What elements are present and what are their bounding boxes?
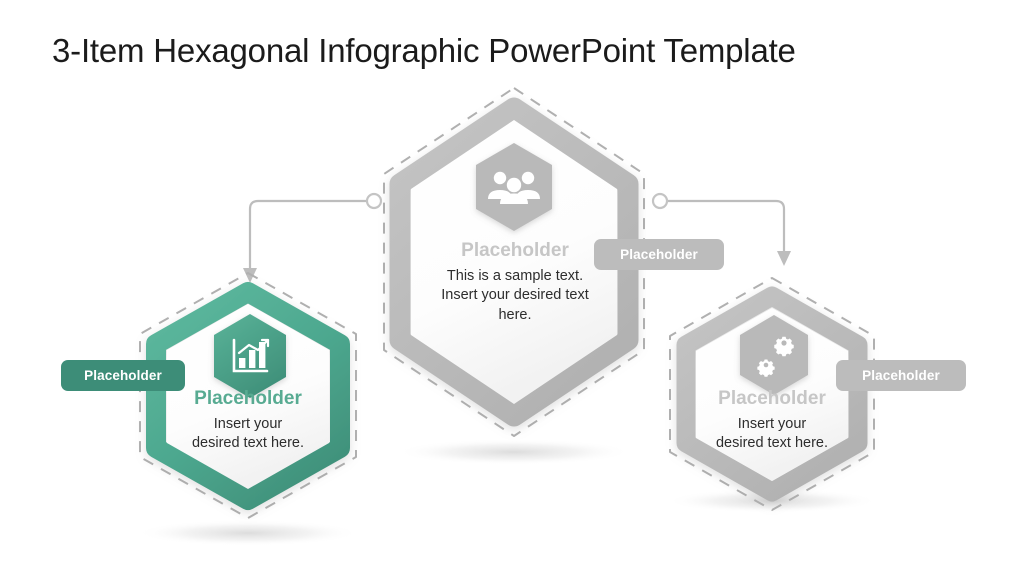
hex-body-line: Insert your — [672, 415, 872, 435]
tag-left[interactable]: Placeholder — [61, 360, 185, 391]
connector-endpoint-right — [653, 194, 667, 208]
hex-body-line: desired text here. — [148, 434, 348, 454]
hex-body-line: Insert your desired text — [414, 286, 616, 306]
slide-canvas: 3-Item Hexagonal Infographic PowerPoint … — [0, 0, 1024, 576]
hex-body-line: desired text here. — [672, 434, 872, 454]
hex-text-left: Placeholder Insert your desired text her… — [148, 389, 348, 454]
hex-body-center: This is a sample text. Insert your desir… — [414, 267, 616, 326]
hex-heading-right: Placeholder — [672, 389, 872, 410]
hex-heading-center: Placeholder — [414, 241, 616, 262]
hex-body-right: Insert your desired text here. — [672, 415, 872, 454]
shadow-left — [136, 520, 360, 546]
hex-body-left: Insert your desired text here. — [148, 415, 348, 454]
shadow-center — [396, 439, 632, 465]
tag-right[interactable]: Placeholder — [836, 360, 966, 391]
connector-endpoint-left — [367, 194, 381, 208]
hex-body-line: here. — [414, 306, 616, 326]
hex-body-line: This is a sample text. — [414, 267, 616, 287]
tag-center[interactable]: Placeholder — [594, 239, 724, 270]
hex-body-line: Insert your — [148, 415, 348, 435]
hex-heading-left: Placeholder — [148, 389, 348, 410]
connector-center-to-left — [243, 194, 381, 283]
hex-text-center: Placeholder This is a sample text. Inser… — [414, 241, 616, 326]
hex-text-right: Placeholder Insert your desired text her… — [672, 389, 872, 454]
